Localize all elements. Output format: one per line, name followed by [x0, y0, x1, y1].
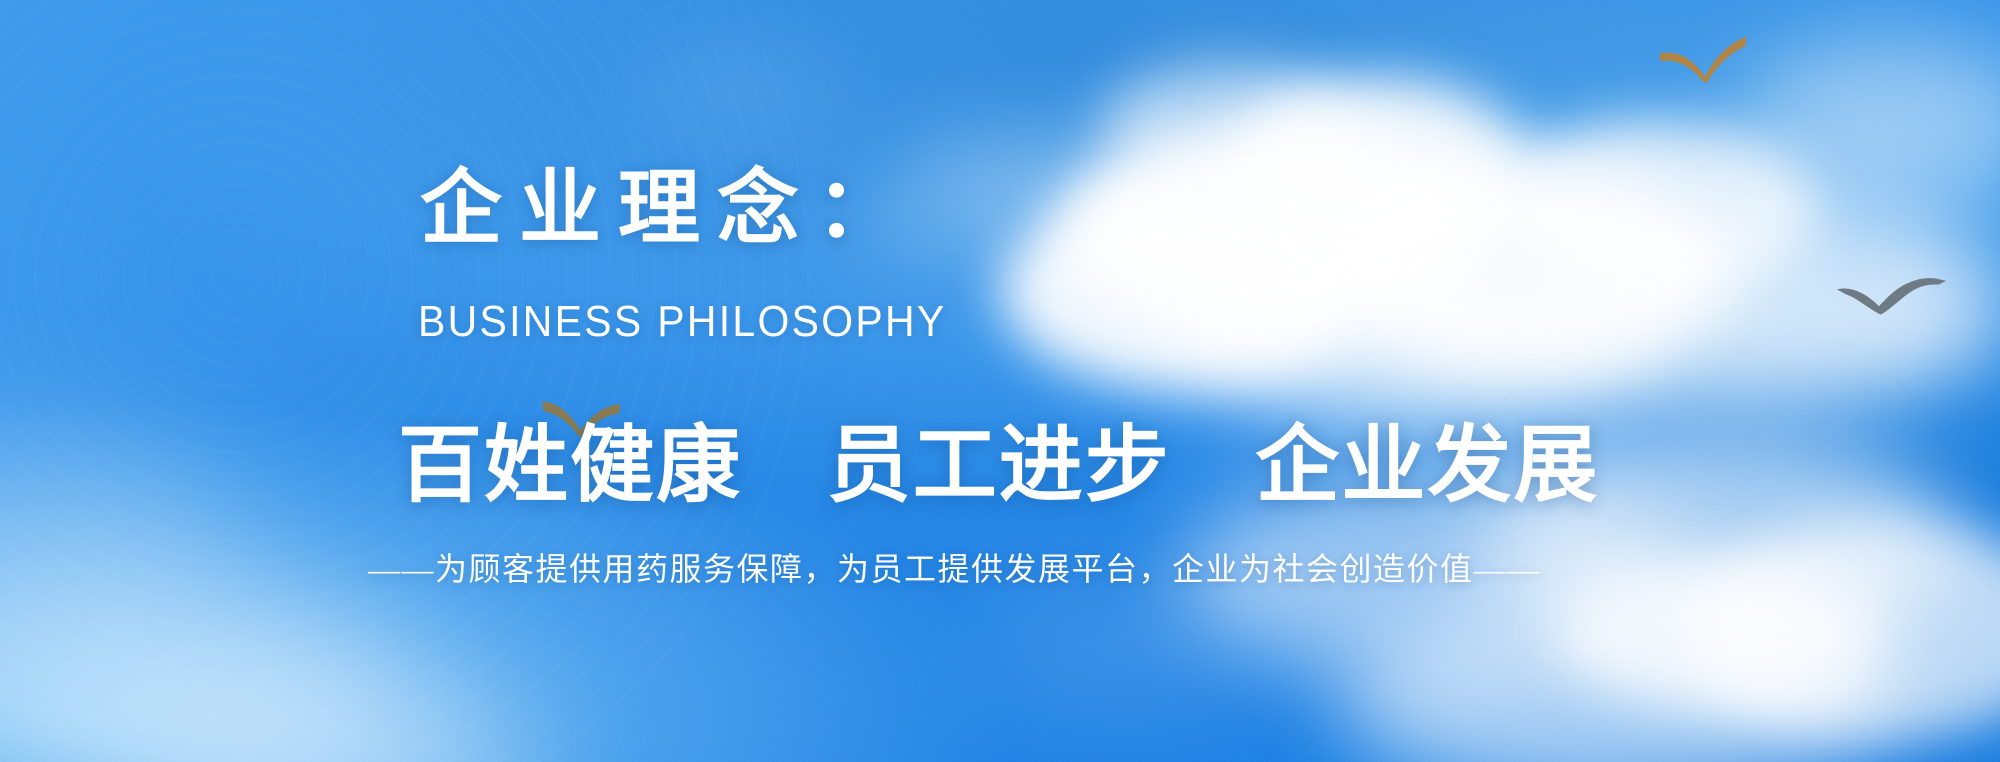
business-philosophy-banner: 企业理念： BUSINESS PHILOSOPHY 百姓健康 员工进步 企业发展…	[0, 0, 2000, 762]
bird-icon	[1836, 272, 1948, 316]
cloud-lower-bank	[1560, 560, 1880, 710]
cloud-streak	[900, 150, 1200, 206]
cloud-streak	[840, 205, 1200, 251]
cloud-wisp	[980, 600, 1280, 690]
bird-icon	[539, 397, 622, 440]
bird-icon	[1657, 35, 1752, 87]
cloud-wisp	[640, 70, 840, 110]
